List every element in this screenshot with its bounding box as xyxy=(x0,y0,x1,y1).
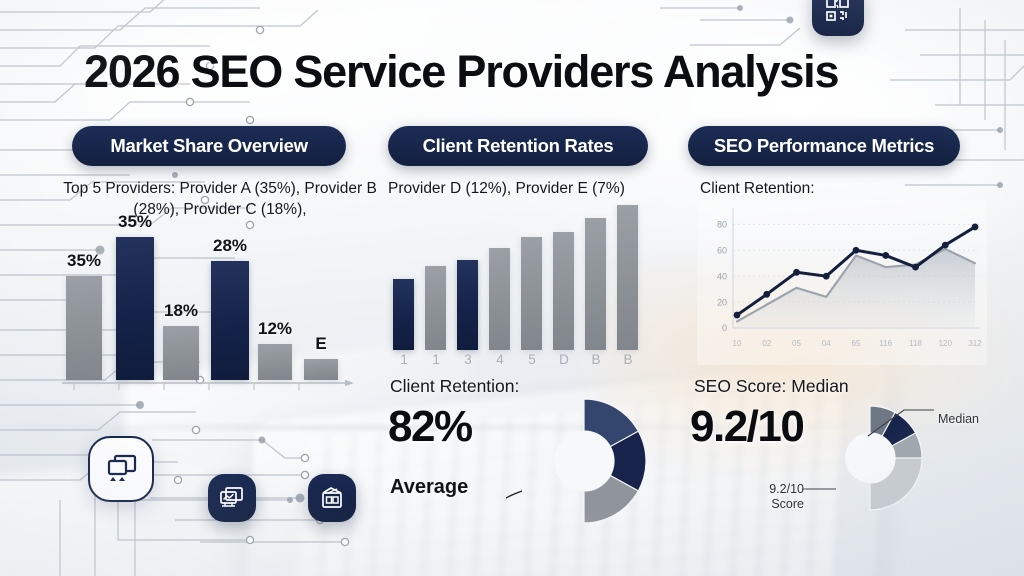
svg-text:118: 118 xyxy=(909,339,922,348)
donut-seo-label-median: Median xyxy=(938,412,979,427)
bar-x-label: 3 xyxy=(457,352,479,367)
svg-text:116: 116 xyxy=(879,339,892,348)
svg-text:0: 0 xyxy=(722,323,727,333)
bar-x-label: 5 xyxy=(521,352,543,367)
kpi-seo-value: 9.2/10 xyxy=(690,402,803,452)
line-data-point xyxy=(882,252,889,259)
line-data-point xyxy=(853,247,860,254)
line-data-point xyxy=(763,291,770,298)
svg-text:80: 80 xyxy=(717,220,727,230)
bar-x-label: B xyxy=(617,352,639,367)
svg-text:60: 60 xyxy=(717,245,727,255)
svg-text:10: 10 xyxy=(733,339,742,348)
line-data-point xyxy=(793,269,800,276)
monitor-window-icon-badge[interactable] xyxy=(88,436,154,502)
bar-x-label: 1 xyxy=(393,352,415,367)
svg-text:40: 40 xyxy=(717,271,727,281)
svg-text:120: 120 xyxy=(939,339,953,348)
donut-retention xyxy=(506,383,662,539)
bar-x-label: D xyxy=(553,352,575,367)
kiosk-display-icon xyxy=(319,486,345,510)
line-data-point xyxy=(942,242,949,249)
line-data-point xyxy=(734,312,741,319)
svg-text:04: 04 xyxy=(822,339,831,348)
monitor-window-icon xyxy=(104,453,138,485)
qr-code-icon-badge[interactable] xyxy=(812,0,864,36)
line-data-point xyxy=(823,273,830,280)
presentation-screen-icon-badge[interactable] xyxy=(208,474,256,522)
kiosk-display-icon-badge[interactable] xyxy=(308,474,356,522)
qr-code-icon xyxy=(824,0,852,24)
svg-text:02: 02 xyxy=(762,339,771,348)
donut-seo-label-score-line2: Score xyxy=(758,497,804,512)
svg-text:20: 20 xyxy=(717,297,727,307)
bar-x-label: B xyxy=(585,352,607,367)
svg-text:05: 05 xyxy=(792,339,801,348)
donut-seo-label-score: 9.2/10 Score xyxy=(758,482,804,512)
line-data-point xyxy=(972,224,979,231)
donut-seo-leader-line-score xyxy=(798,478,858,504)
presentation-screen-icon xyxy=(219,486,245,510)
infographic-canvas: 2026 SEO Service Providers Analysis Mark… xyxy=(0,0,1024,576)
line-data-point xyxy=(912,264,919,271)
donut-seo-label-score-line1: 9.2/10 xyxy=(758,482,804,497)
svg-text:65: 65 xyxy=(852,339,861,348)
kpi-retention-value: 82% xyxy=(388,402,472,452)
kpi-retention-title: Client Retention: xyxy=(390,376,519,397)
kpi-retention-subtitle: Average xyxy=(390,476,468,499)
svg-text:312: 312 xyxy=(968,339,982,348)
bar-x-label: 4 xyxy=(489,352,511,367)
chart-seo-performance-line: 020406080 1002050465116118120312 xyxy=(697,200,987,365)
bar-x-label: 1 xyxy=(425,352,447,367)
